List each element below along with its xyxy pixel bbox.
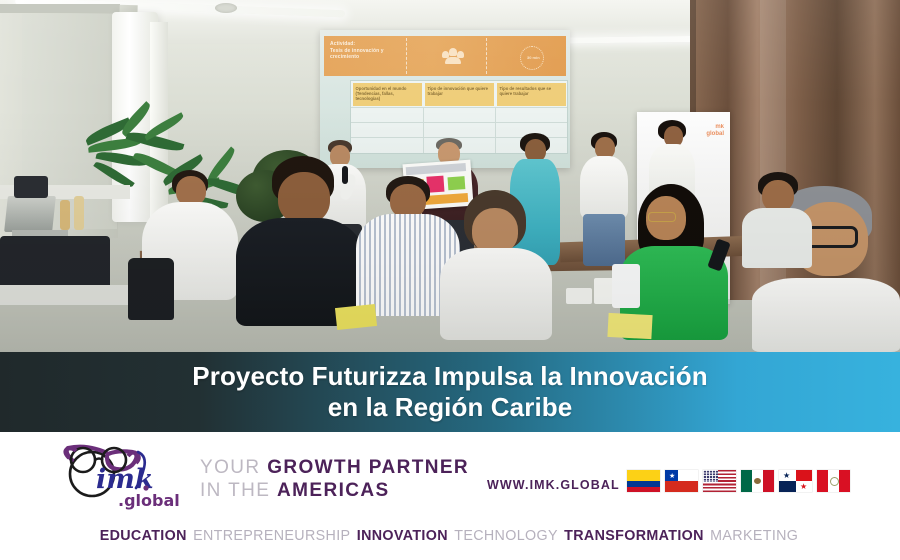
tagline-line-1: YOUR GROWTH PARTNER <box>200 456 469 479</box>
attendee-seated <box>440 190 552 340</box>
slide-table-header-cell: Oportunidad en el mundo (Tendencias, fal… <box>353 83 422 106</box>
slide-header-text: Actividad: Tesis de innovación y crecimi… <box>330 41 384 61</box>
website-url[interactable]: WWW.IMK.GLOBAL <box>487 478 620 492</box>
laptop <box>4 196 56 232</box>
colombia-flag <box>627 470 660 492</box>
drink-cup <box>60 200 70 230</box>
keyword-item: EDUCATION <box>100 528 187 544</box>
tagline: YOUR GROWTH PARTNER IN THE AMERICAS <box>200 456 469 502</box>
title-banner: Proyecto Futurizza Impulsa la Innovación… <box>0 352 900 432</box>
title-line-1: Proyecto Futurizza Impulsa la Innovación <box>192 361 707 392</box>
slide-header: Actividad: Tesis de innovación y crecimi… <box>324 36 566 76</box>
tagline-line-2-bold: AMERICAS <box>277 480 390 501</box>
slide-table-header-cell: Tipo de innovación que quiere trabajar <box>425 83 494 106</box>
tagline-line-1-light: YOUR <box>200 457 261 478</box>
poster: Actividad: Tesis de innovación y crecimi… <box>0 0 900 560</box>
eyeglasses-icon <box>648 212 676 222</box>
slide-divider <box>406 38 407 74</box>
mexico-flag <box>741 470 774 492</box>
slide-divider <box>486 38 487 74</box>
keyword-item: TRANSFORMATION <box>564 528 704 544</box>
tagline-line-2: IN THE AMERICAS <box>200 479 469 502</box>
sticky-note <box>607 313 652 339</box>
svg-text:.global: .global <box>118 491 180 510</box>
page-title: Proyecto Futurizza Impulsa la Innovación… <box>192 361 707 423</box>
slide-table-header-cell: Tipo de resultados que se quiere trabaja… <box>497 83 566 106</box>
panama-flag: ★ ★ <box>779 470 812 492</box>
usa-flag <box>703 470 736 492</box>
attendee-seated <box>236 156 364 326</box>
chile-flag: ★ <box>665 470 698 492</box>
imk-global-logo[interactable]: imk .global <box>52 444 192 510</box>
sticky-note <box>335 304 377 330</box>
title-line-2: en la Región Caribe <box>192 392 707 423</box>
blind-rail <box>0 4 120 13</box>
people-icon <box>442 48 464 64</box>
keyword-item: ENTREPRENEURSHIP <box>193 528 350 544</box>
keyword-strip: EDUCATION ENTREPRENEURSHIP INNOVATION TE… <box>0 528 900 544</box>
clock-icon: 30 min <box>520 46 544 70</box>
keyword-item: TECHNOLOGY <box>454 528 558 544</box>
tagline-line-2-light: IN THE <box>200 480 270 501</box>
side-desk <box>0 285 140 305</box>
keyword-item: MARKETING <box>710 528 798 544</box>
attendee-seated <box>742 172 812 268</box>
rollup-top-text: mkglobal <box>706 124 724 138</box>
keyword-item: INNOVATION <box>357 528 448 544</box>
event-photo: Actividad: Tesis de innovación y crecimi… <box>0 0 900 352</box>
drink-cup <box>74 196 84 230</box>
country-flags: ★ ★ ★ <box>627 470 850 492</box>
peru-flag <box>817 470 850 492</box>
slide-table-header-row: Oportunidad en el mundo (Tendencias, fal… <box>351 81 567 107</box>
tagline-line-1-bold: GROWTH PARTNER <box>267 457 469 478</box>
chair <box>128 258 174 320</box>
paper-cup <box>566 288 592 304</box>
camera-equipment <box>14 176 48 198</box>
ceiling-vent-icon <box>215 3 237 13</box>
water-bottle <box>612 264 640 308</box>
imk-global-logo-icon: imk .global <box>52 444 192 510</box>
